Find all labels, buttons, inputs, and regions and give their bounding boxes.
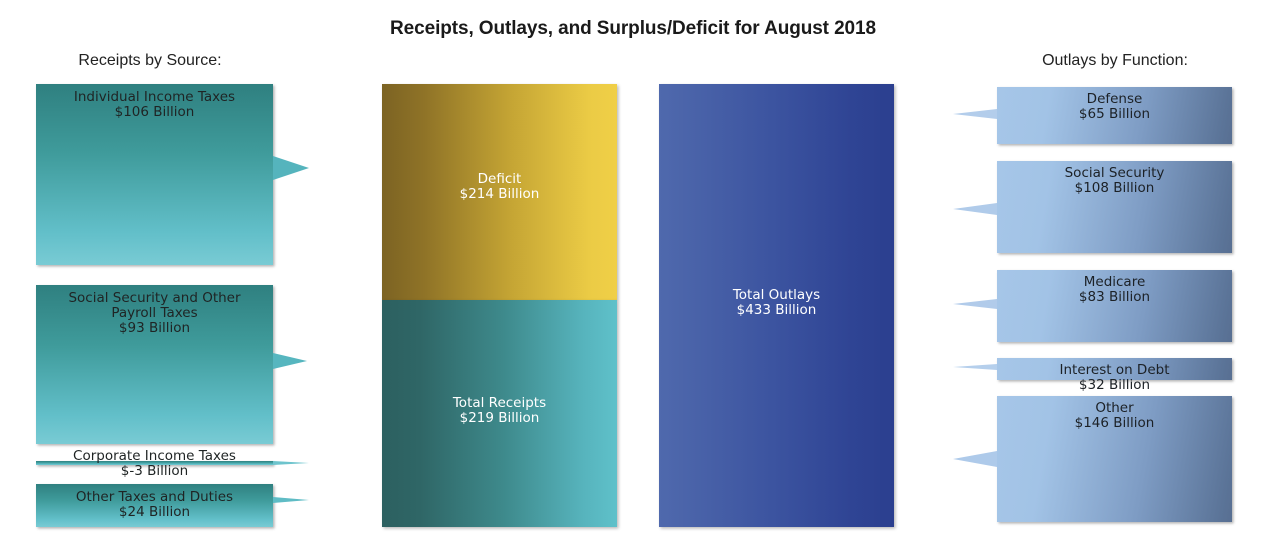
outlays-value-text-3: $32 Billion: [997, 378, 1232, 393]
outlays-pointer-defense: [953, 109, 997, 119]
receipts-block-individual-income-taxes[interactable]: Individual Income Taxes $106 Billion: [36, 84, 273, 265]
center-column-receipts-plus-deficit: Deficit $214 Billion Total Receipts $219…: [382, 84, 617, 527]
outlays-pointer-other: [953, 451, 997, 467]
outlays-block-other[interactable]: Other $146 Billion: [997, 396, 1232, 522]
center-segment-deficit[interactable]: Deficit $214 Billion: [382, 84, 617, 300]
receipts-bar-individual-income-taxes: [36, 84, 273, 265]
outlays-block-interest-on-debt[interactable]: Interest on Debt $32 Billion: [997, 358, 1232, 380]
center-label-total-outlays: Total Outlays $433 Billion: [659, 288, 894, 318]
receipts-block-corporate-income-taxes[interactable]: Corporate Income Taxes $-3 Billion: [36, 461, 273, 465]
outlays-block-defense[interactable]: Defense $65 Billion: [997, 87, 1232, 144]
receipts-pointer-corporate-income-taxes: [273, 461, 309, 465]
center-value-text-total-outlays: $433 Billion: [659, 303, 894, 318]
center-label-text-deficit: Deficit: [478, 171, 522, 187]
receipts-value-text-2: $-3 Billion: [36, 464, 273, 479]
receipts-pointer-social-security-payroll-taxes: [273, 353, 307, 369]
receipts-bar-corporate-income-taxes: [36, 461, 273, 465]
outlays-block-medicare[interactable]: Medicare $83 Billion: [997, 270, 1232, 342]
center-segment-total-outlays[interactable]: Total Outlays $433 Billion: [659, 84, 894, 527]
receipts-panel-header: Receipts by Source:: [20, 52, 280, 70]
receipts-pointer-individual-income-taxes: [273, 156, 309, 180]
center-label-text-total-outlays: Total Outlays: [733, 287, 820, 303]
outlays-bar-defense: [997, 87, 1232, 144]
outlays-pointer-interest-on-debt: [953, 364, 997, 370]
outlays-pointer-medicare: [953, 299, 997, 309]
center-label-total-receipts: Total Receipts $219 Billion: [382, 396, 617, 426]
center-label-deficit: Deficit $214 Billion: [382, 172, 617, 202]
center-value-text-total-receipts: $219 Billion: [382, 411, 617, 426]
center-segment-total-receipts[interactable]: Total Receipts $219 Billion: [382, 300, 617, 527]
receipts-block-other-taxes-and-duties[interactable]: Other Taxes and Duties $24 Billion: [36, 484, 273, 527]
center-column-total-outlays: Total Outlays $433 Billion: [659, 84, 894, 527]
outlays-panel-header: Outlays by Function:: [985, 52, 1245, 70]
outlays-bar-interest-on-debt: [997, 358, 1232, 380]
outlays-pointer-social-security: [953, 203, 997, 215]
center-value-text-deficit: $214 Billion: [382, 187, 617, 202]
outlays-bar-medicare: [997, 270, 1232, 342]
center-label-text-total-receipts: Total Receipts: [453, 395, 546, 411]
chart-canvas: Receipts, Outlays, and Surplus/Deficit f…: [0, 0, 1266, 548]
receipts-pointer-other-taxes-and-duties: [273, 497, 309, 503]
receipts-block-social-security-payroll-taxes[interactable]: Social Security and Other Payroll Taxes …: [36, 285, 273, 444]
receipts-bar-social-security-payroll-taxes: [36, 285, 273, 444]
outlays-bar-social-security: [997, 161, 1232, 253]
page-title: Receipts, Outlays, and Surplus/Deficit f…: [0, 18, 1266, 40]
receipts-bar-other-taxes-and-duties: [36, 484, 273, 527]
outlays-bar-other: [997, 396, 1232, 522]
outlays-block-social-security[interactable]: Social Security $108 Billion: [997, 161, 1232, 253]
